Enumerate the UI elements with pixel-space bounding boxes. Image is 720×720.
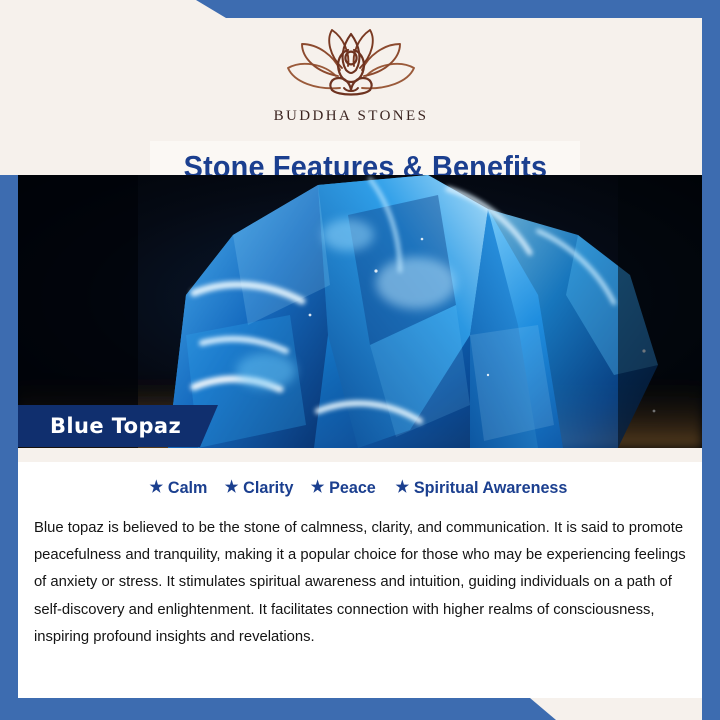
benefit-item-clarity: ★ Clarity: [224, 478, 293, 498]
stone-name-label: Blue Topaz: [50, 414, 181, 438]
benefit-label: Calm: [168, 478, 207, 498]
benefit-label: Spiritual Awareness: [414, 478, 567, 498]
star-icon: ★: [224, 480, 238, 496]
benefit-item-peace: ★ Peace: [311, 478, 376, 498]
benefit-label: Clarity: [243, 478, 293, 498]
description-text: Blue topaz is believed to be the stone o…: [32, 514, 688, 650]
content-top-strip: [18, 448, 702, 462]
brand-logo: BUDDHA STONES: [0, 28, 702, 125]
stone-name-tag: Blue Topaz: [18, 405, 218, 447]
benefit-label: Peace: [329, 478, 376, 498]
star-icon: ★: [311, 480, 325, 496]
top-accent-band: [0, 0, 720, 18]
content-panel: ★ Calm ★ Clarity ★ Peace ★ Spiritual Awa…: [18, 462, 702, 698]
header: BUDDHA STONES Stone Features & Benefits: [0, 18, 702, 175]
lotus-meditation-icon: [276, 28, 426, 106]
bottom-accent-band: [0, 698, 560, 720]
star-icon: ★: [149, 480, 163, 496]
benefit-item-spiritual-awareness: ★ Spiritual Awareness: [396, 478, 568, 498]
left-accent-band: [0, 175, 18, 720]
star-icon: ★: [396, 480, 410, 496]
benefit-item-calm: ★ Calm: [149, 478, 207, 498]
benefits-row: ★ Calm ★ Clarity ★ Peace ★ Spiritual Awa…: [32, 478, 688, 498]
right-accent-band: [702, 18, 720, 720]
brand-name: BUDDHA STONES: [274, 108, 429, 125]
